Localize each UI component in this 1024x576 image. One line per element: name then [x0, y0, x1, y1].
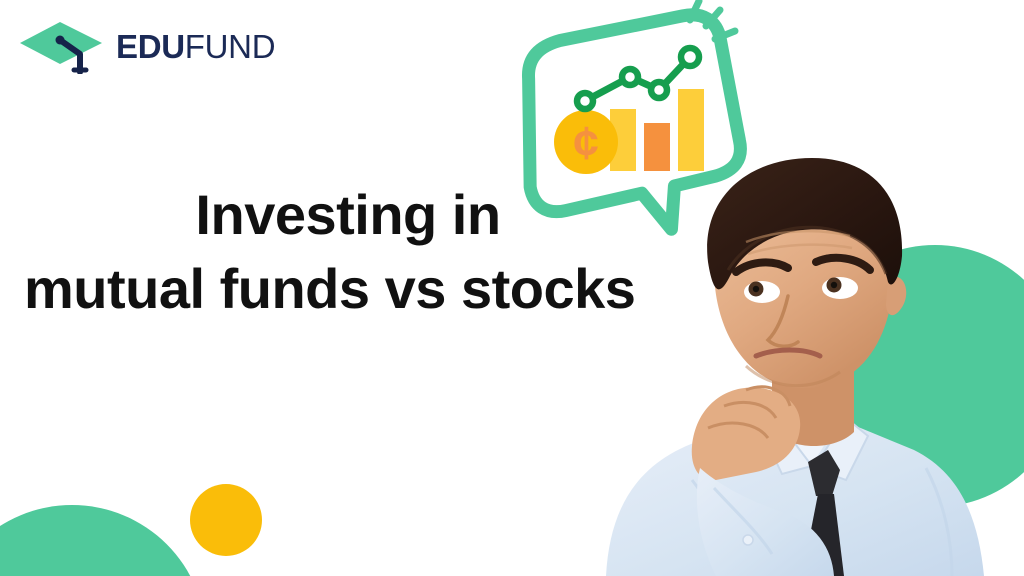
brand-logo[interactable]: EDUFUND: [18, 16, 275, 76]
trend-node-4: [681, 48, 699, 66]
svg-text:¢: ¢: [573, 117, 599, 169]
page-title-line-2: mutual funds vs stocks: [24, 252, 664, 326]
decorative-yellow-circle-bottom-left: [190, 484, 262, 556]
brand-wordmark: EDUFUND: [116, 30, 275, 63]
brand-wordmark-fund: FUND: [185, 28, 275, 65]
brand-wordmark-edu: EDU: [116, 28, 185, 65]
graduation-cap-icon: [18, 18, 104, 74]
trend-node-1: [577, 93, 593, 109]
trend-node-3: [651, 82, 667, 98]
decorative-green-circle-bottom-left: [0, 505, 206, 576]
trend-node-2: [622, 69, 638, 85]
thinking-businessman-photo: [596, 150, 1016, 576]
head: [707, 158, 906, 388]
slide-canvas: EDUFUND Investing in mutual funds vs sto…: [0, 0, 1024, 576]
